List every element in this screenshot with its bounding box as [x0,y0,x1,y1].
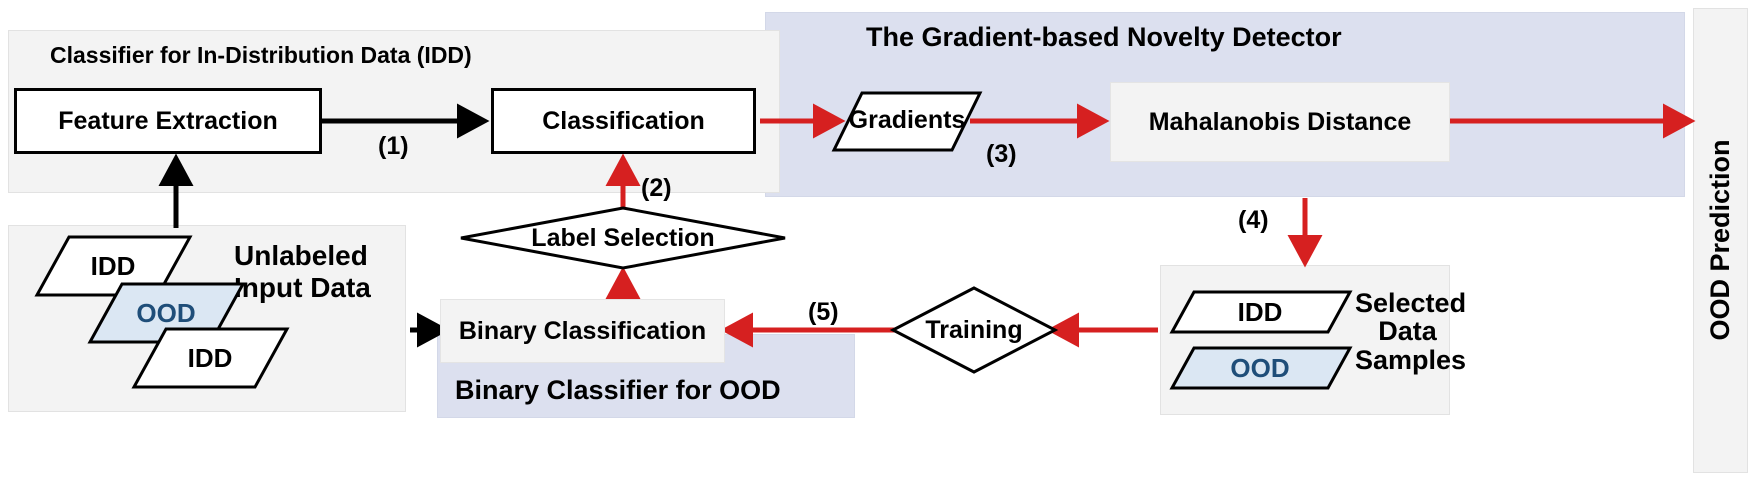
node-label-selection-shape [461,208,785,268]
node-feature-extraction-label: Feature Extraction [58,107,278,136]
node-training-label: Training [904,310,1044,350]
panel-title-ood-prediction: OOD Prediction [1695,120,1745,360]
panel-title-novelty-detector: The Gradient-based Novelty Detector [866,22,1342,53]
panel-title-idd-classifier: Classifier for In-Distribution Data (IDD… [50,42,472,69]
diagram-canvas: Classifier for In-Distribution Data (IDD… [0,0,1755,481]
step-label-2: (2) [641,174,672,203]
node-mahalanobis-distance-label: Mahalanobis Distance [1149,108,1412,137]
step-label-3: (3) [986,140,1017,169]
step-label-4: (4) [1238,206,1269,235]
selected-samples-line2: Data [1355,317,1460,345]
panel-title-binary-classifier: Binary Classifier for OOD [455,375,781,406]
selected-samples-line3: Samples [1355,346,1460,374]
node-classification-label: Classification [542,107,705,136]
node-mahalanobis-distance[interactable]: Mahalanobis Distance [1110,82,1450,162]
step-label-5: (5) [808,298,839,327]
node-feature-extraction[interactable]: Feature Extraction [14,88,322,154]
panel-title-selected-samples: Selected Data Samples [1355,289,1460,374]
panel-title-unlabeled-input-line1: Unlabeled [234,240,368,272]
node-binary-classification-label: Binary Classification [459,317,706,346]
panel-title-unlabeled-input-line2: Input Data [234,272,371,304]
node-binary-classification[interactable]: Binary Classification [440,299,725,363]
node-classification[interactable]: Classification [491,88,756,154]
node-label-selection-label: Label Selection [523,218,723,258]
selected-samples-line1: Selected [1355,289,1460,317]
node-training-shape [893,288,1055,372]
step-label-1: (1) [378,132,409,161]
